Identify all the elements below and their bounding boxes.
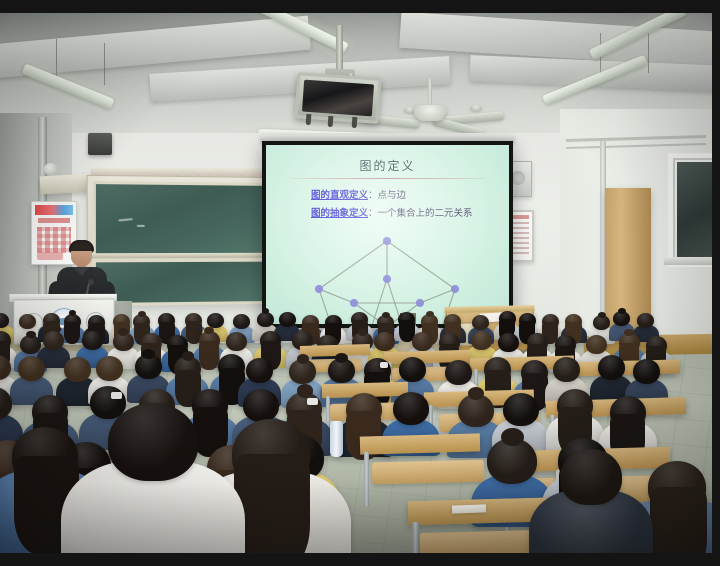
- audience-member-head: [279, 312, 296, 327]
- audience-member-hair-bun: [358, 328, 368, 336]
- chalkboard-panel-upper: [93, 181, 269, 258]
- ceiling-fixture-icon: [470, 105, 482, 111]
- notebook: [452, 504, 486, 513]
- audience-member-hair-bun: [142, 349, 154, 359]
- audience-member-head: [498, 333, 519, 352]
- slide-title: 图的定义: [266, 157, 509, 174]
- audience-member-head: [399, 357, 426, 382]
- microphone-icon: [88, 279, 94, 285]
- chalk-mark: [118, 218, 132, 221]
- audience-member-hair-bun: [297, 354, 309, 364]
- audience-member-head: [246, 358, 273, 383]
- wall-speaker-left: [88, 133, 112, 155]
- audience-member-long-hair: [199, 341, 219, 370]
- audience-member-head: [19, 314, 36, 329]
- projected-slide: 图的定义 图的直观定义：点与边 图的抽象定义：一个集合上的二元关系: [266, 145, 509, 324]
- audience-member-head: [18, 356, 45, 381]
- window-sill: [664, 257, 712, 265]
- poster-text-grid: [37, 227, 71, 253]
- projector-mount-pole: [336, 25, 343, 75]
- audience-member-head: [503, 393, 539, 426]
- audience-member-head: [633, 359, 660, 384]
- audience-member-head: [553, 357, 580, 382]
- student-desk: [360, 433, 480, 454]
- graph-node: [314, 285, 322, 293]
- audience-member-head: [445, 360, 472, 385]
- poster-title-band: [38, 218, 70, 223]
- lecture-hall-photo: 图的定义 图的直观定义：点与边 图的抽象定义：一个集合上的二元关系: [0, 13, 712, 553]
- slide-bullet-keyword: 图的抽象定义: [311, 208, 368, 219]
- window: [668, 153, 712, 267]
- screenshot-root: 图的定义 图的直观定义：点与边 图的抽象定义：一个集合上的二元关系: [0, 0, 720, 566]
- graph-edge: [319, 241, 387, 289]
- ceiling-camera-icon: [44, 163, 58, 175]
- audience-member-hair-bun: [618, 308, 626, 314]
- audience-member-head: [233, 314, 250, 329]
- desk-leg: [364, 452, 369, 506]
- slide-bullet-separator: ：: [368, 208, 378, 219]
- audience-member-hair-bun: [335, 353, 347, 363]
- audience-member-head: [586, 335, 607, 354]
- chalkboard: [87, 175, 274, 306]
- audience-member-head: [243, 389, 279, 422]
- chalk-ledge: [90, 253, 271, 259]
- slide-bullet-keyword: 图的直观定义: [311, 190, 368, 201]
- foreground-student-long-hair: [234, 454, 310, 553]
- audience-member-hair-bun: [468, 387, 485, 400]
- audience-member-head: [598, 355, 625, 380]
- audience-member-hair-bun: [501, 428, 524, 446]
- audience-member-hair-bun: [182, 351, 194, 361]
- audience-member-hair-bun: [598, 312, 606, 318]
- hair-clip: [111, 392, 122, 399]
- student-audience: [0, 299, 712, 553]
- graph-edge: [387, 241, 455, 289]
- water-bottle: [330, 421, 343, 457]
- desk-leg: [412, 522, 419, 553]
- audience-member-head: [207, 313, 224, 328]
- audience-member-head: [96, 356, 123, 381]
- slide-bullet-separator: ：: [368, 190, 378, 201]
- audience-member-head: [471, 331, 492, 350]
- projector-cage-bolt: [306, 114, 312, 125]
- slide-bullet-text: 一个集合上的二元关系: [378, 208, 473, 219]
- seat-back: [372, 460, 485, 485]
- foreground-student-long-hair: [650, 487, 707, 553]
- poster-header-band: [35, 205, 73, 215]
- audience-member-head: [226, 332, 247, 351]
- audience-member-hair-bun: [138, 311, 146, 317]
- hair-clip: [307, 398, 318, 405]
- audience-member-long-hair: [64, 322, 80, 345]
- slide-bullet-line-1: 图的直观定义：点与边: [311, 189, 406, 203]
- poster-footer-band: [37, 252, 63, 260]
- audience-member-head: [82, 331, 103, 350]
- audience-member-head: [257, 312, 274, 327]
- letterbox-bar-top: [0, 0, 720, 13]
- audience-member-head: [412, 332, 433, 351]
- audience-member-hair-bun: [382, 312, 390, 318]
- foreground-student-head: [108, 403, 198, 481]
- audience-member-head: [637, 313, 654, 328]
- audience-member-head: [43, 331, 64, 350]
- ceiling-fan-hub: [414, 105, 446, 121]
- audience-member-head: [374, 332, 395, 351]
- graph-node: [382, 237, 390, 245]
- slide-title-divider: [290, 178, 485, 179]
- audience-member-head: [472, 315, 489, 330]
- audience-member-hair-bun: [426, 311, 434, 317]
- letterbox-bar-right: [712, 0, 720, 566]
- slide-bullet-line-2: 图的抽象定义：一个集合上的二元关系: [311, 207, 479, 221]
- hair-clip: [380, 362, 388, 368]
- audience-member-head: [393, 392, 429, 425]
- chalk-mark: [137, 225, 145, 227]
- audience-member-hair-bun: [118, 328, 128, 336]
- foreground-student-head: [560, 449, 622, 505]
- graph-node: [450, 285, 458, 293]
- projector-cage-bolt: [328, 116, 334, 127]
- slide-bullet-text: 点与边: [378, 190, 407, 201]
- graph-node: [382, 275, 390, 283]
- light-hanger: [104, 43, 105, 85]
- light-hanger: [648, 29, 649, 73]
- letterbox-bar-bottom: [0, 553, 720, 566]
- audience-member-head: [64, 357, 91, 382]
- audience-member-hair-bun: [26, 331, 36, 339]
- projector-cage-bolt: [352, 117, 358, 128]
- audience-member-hair-bun: [297, 384, 314, 397]
